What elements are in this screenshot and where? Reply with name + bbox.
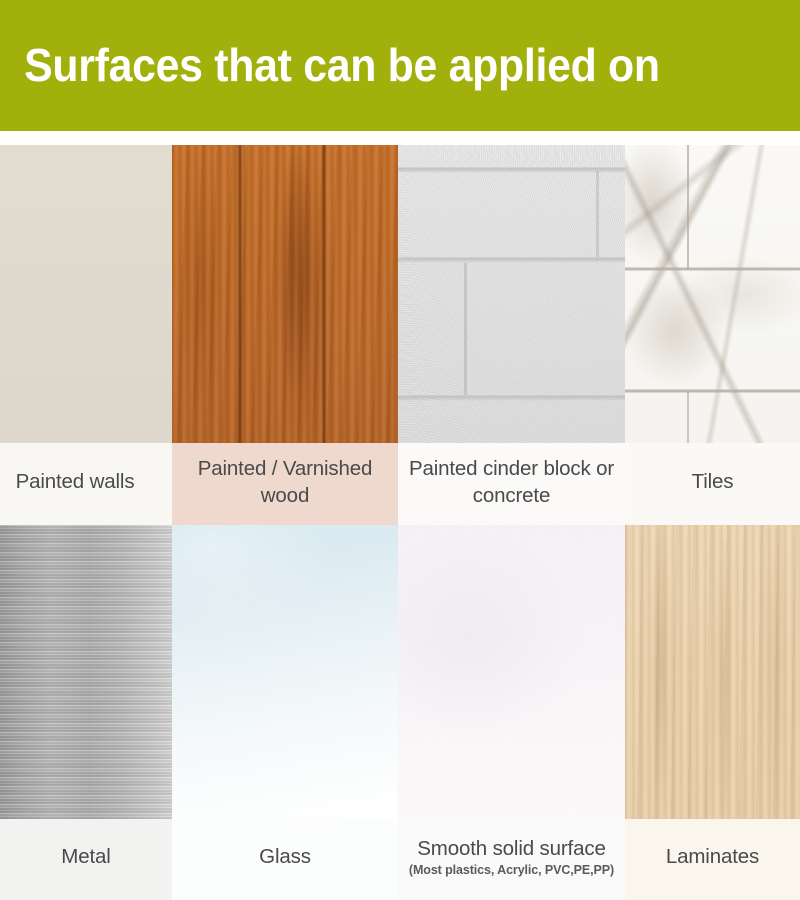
glass-swatch bbox=[172, 525, 398, 819]
surface-caption: Smooth solid surface (Most plastics, Acr… bbox=[398, 819, 625, 900]
surface-caption: Painted / Varnished wood bbox=[172, 443, 398, 526]
surfaces-infographic: Surfaces that can be applied on Painted … bbox=[0, 0, 800, 900]
laminate-swatch bbox=[625, 525, 800, 819]
surface-card-cinder-block[interactable]: Painted cinder block or concrete bbox=[398, 145, 625, 526]
cinder-block-swatch bbox=[398, 145, 625, 443]
surface-caption: Laminates bbox=[625, 819, 800, 900]
page-title: Surfaces that can be applied on bbox=[0, 41, 673, 89]
surface-label: Glass bbox=[259, 844, 311, 870]
surface-sublabel: (Most plastics, Acrylic, PVC,PE,PP) bbox=[409, 863, 614, 879]
surface-label: Painted cinder block or concrete bbox=[404, 456, 619, 508]
surface-card-metal[interactable]: Metal bbox=[0, 525, 172, 900]
brushed-metal-swatch bbox=[0, 525, 172, 819]
surface-grid: Painted walls Painted / Varnished wood P… bbox=[0, 131, 800, 900]
surface-label: Laminates bbox=[666, 844, 759, 870]
surface-caption: Painted walls bbox=[0, 443, 172, 526]
surface-card-glass[interactable]: Glass bbox=[172, 525, 398, 900]
surface-caption: Painted cinder block or concrete bbox=[398, 443, 625, 526]
surface-card-painted-walls[interactable]: Painted walls bbox=[0, 145, 172, 526]
surface-grid-row: Metal Glass Smooth solid surface (Most p… bbox=[0, 525, 800, 900]
surface-caption: Glass bbox=[172, 819, 398, 900]
surface-card-tiles[interactable]: Tiles bbox=[625, 145, 800, 526]
varnished-wood-swatch bbox=[172, 145, 398, 443]
surface-card-varnished-wood[interactable]: Painted / Varnished wood bbox=[172, 145, 398, 526]
surface-card-laminates[interactable]: Laminates bbox=[625, 525, 800, 900]
solid-surface-swatch bbox=[398, 525, 625, 819]
surface-label: Painted walls bbox=[16, 469, 135, 495]
surface-grid-row: Painted walls Painted / Varnished wood P… bbox=[0, 145, 800, 526]
painted-wall-swatch bbox=[0, 145, 172, 443]
header-banner: Surfaces that can be applied on bbox=[0, 0, 800, 131]
surface-caption: Metal bbox=[0, 819, 172, 900]
surface-label: Painted / Varnished wood bbox=[178, 456, 392, 508]
surface-label: Smooth solid surface bbox=[417, 836, 605, 862]
marble-tile-swatch bbox=[625, 145, 800, 443]
surface-label: Metal bbox=[61, 844, 110, 870]
surface-label: Tiles bbox=[692, 469, 734, 495]
surface-caption: Tiles bbox=[625, 443, 800, 526]
surface-card-smooth-solid-surface[interactable]: Smooth solid surface (Most plastics, Acr… bbox=[398, 525, 625, 900]
